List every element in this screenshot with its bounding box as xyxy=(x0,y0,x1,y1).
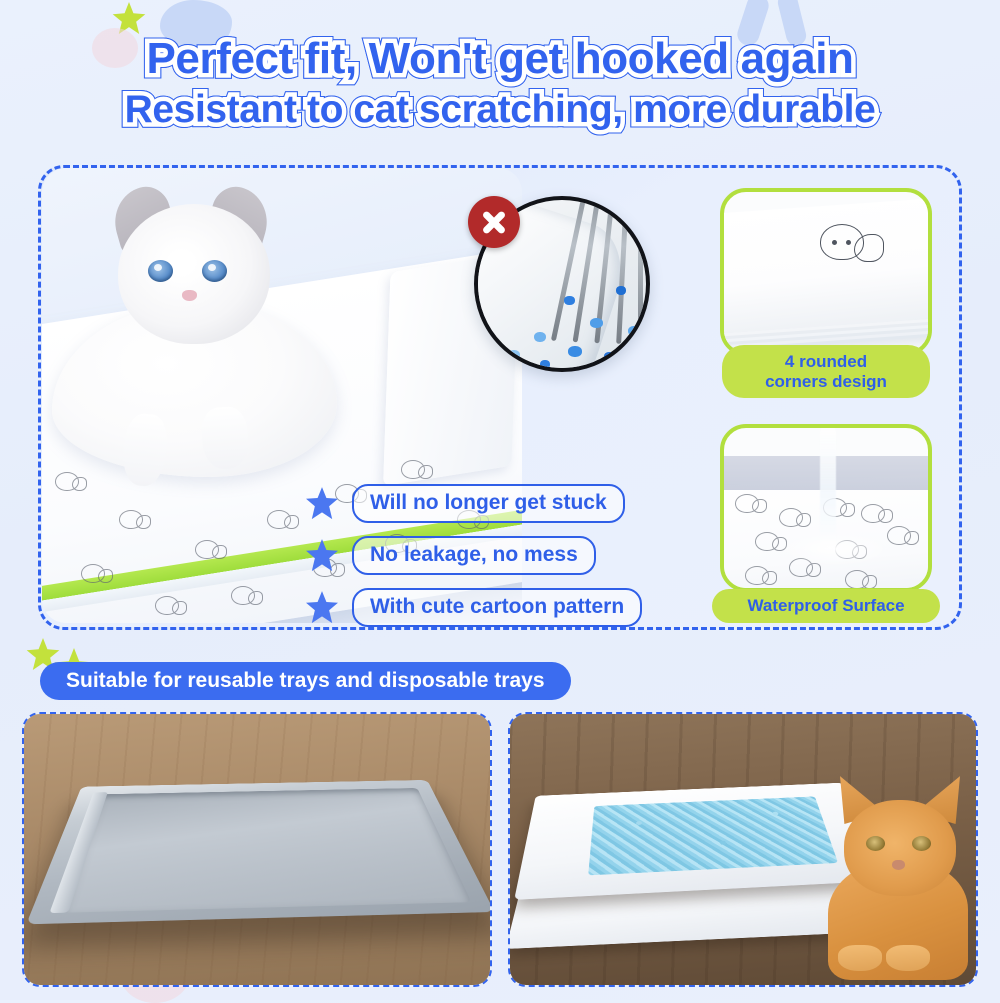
litter-crystal xyxy=(568,346,582,357)
photo-metal-tray xyxy=(22,712,492,987)
tabby-head xyxy=(844,800,956,896)
photo-disposable-trays-with-cat xyxy=(508,712,978,987)
list-item: Will no longer get stuck xyxy=(305,484,642,523)
mat-cat-pattern xyxy=(116,506,150,532)
star-icon xyxy=(305,487,339,521)
headline-block: Perfect fit, Won't get hooked again Perf… xyxy=(0,36,1000,130)
label-waterproof-surface: Waterproof Surface xyxy=(712,589,940,623)
label-line-2: corners design xyxy=(765,372,887,391)
pad-cat-pattern xyxy=(820,218,890,274)
litter-crystal xyxy=(590,318,603,328)
headline-line1: Perfect fit, Won't get hooked again xyxy=(146,36,853,83)
star-icon xyxy=(305,591,339,625)
litter-crystal xyxy=(628,326,640,336)
cat-head xyxy=(118,204,270,344)
inset-photo-waterproof-demo xyxy=(720,424,932,592)
bullet-label: Will no longer get stuck xyxy=(352,484,625,523)
inset-photo-stacked-pads xyxy=(720,188,932,356)
deco-star-green-top xyxy=(112,2,146,36)
litter-crystal xyxy=(534,332,546,342)
list-item: No leakage, no mess xyxy=(305,536,642,575)
pad-cat-pattern xyxy=(776,504,810,530)
mat-cat-pattern xyxy=(192,536,226,562)
pad-cat-pattern xyxy=(732,490,766,516)
ragdoll-cat xyxy=(52,182,352,482)
tray-inner-surface xyxy=(61,788,471,913)
list-item: With cute cartoon pattern xyxy=(305,588,642,627)
suitable-banner: Suitable for reusable trays and disposab… xyxy=(40,662,571,700)
headline-line2: Resistant to cat scratching, more durabl… xyxy=(125,89,876,130)
orange-tabby-cat xyxy=(820,766,970,971)
litter-crystal xyxy=(508,350,520,360)
metal-litter-tray xyxy=(26,780,492,924)
blue-litter-bed xyxy=(588,796,838,875)
tabby-paw-right xyxy=(886,945,930,971)
cat-nose xyxy=(182,290,197,301)
pad-cat-body xyxy=(854,234,884,262)
feature-bullet-list: Will no longer get stuck No leakage, no … xyxy=(305,484,642,640)
pad-cat-pattern xyxy=(742,562,776,588)
label-line-1: 4 rounded xyxy=(785,352,867,371)
tabby-paw-left xyxy=(838,945,882,971)
mat-cat-pattern xyxy=(264,506,298,532)
pad-cat-eye xyxy=(832,240,837,245)
litter-crystal xyxy=(604,352,615,361)
litter-crystal xyxy=(564,296,575,305)
mat-cat-pattern xyxy=(152,592,186,618)
mat-cat-pattern xyxy=(398,456,432,482)
cat-eye-right xyxy=(202,260,227,282)
cat-eye-left xyxy=(148,260,173,282)
bullet-label: With cute cartoon pattern xyxy=(352,588,642,627)
mat-cat-pattern xyxy=(78,560,112,586)
bullet-label: No leakage, no mess xyxy=(352,536,596,575)
litter-crystal xyxy=(540,360,550,369)
rake-tine xyxy=(638,196,643,344)
tabby-eye-right xyxy=(912,836,931,851)
tabby-nose xyxy=(892,860,905,870)
label-rounded-corners: 4 rounded corners design xyxy=(722,345,930,398)
mat-cat-pattern xyxy=(228,582,262,608)
star-icon xyxy=(305,539,339,573)
litter-crystal xyxy=(616,286,626,295)
tabby-eye-left xyxy=(866,836,885,851)
x-mark-icon xyxy=(468,196,520,248)
water-splash xyxy=(780,532,890,566)
pad-cat-eye xyxy=(846,240,851,245)
